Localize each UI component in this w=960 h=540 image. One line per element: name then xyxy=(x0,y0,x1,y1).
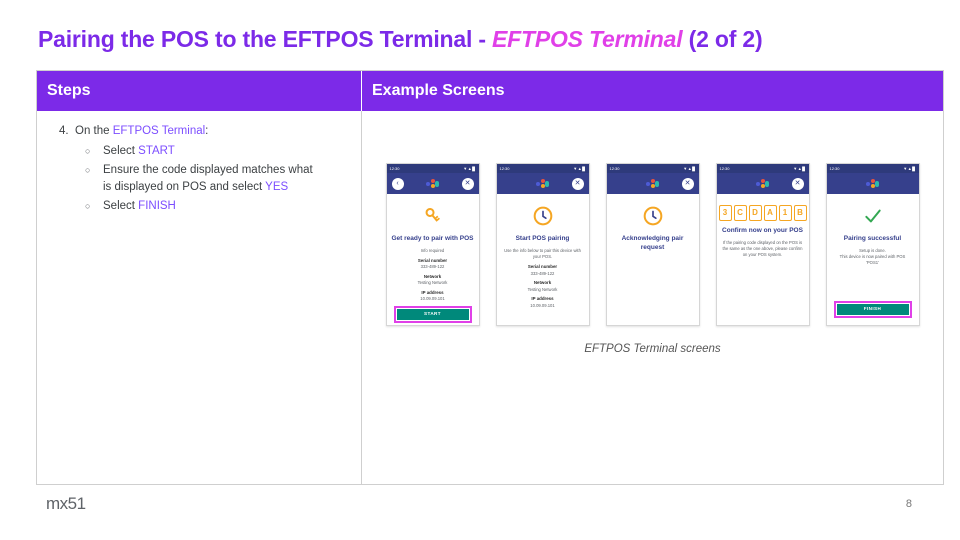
phone-screen-title: Confirm now on your POS xyxy=(722,227,803,236)
phone-app-bar: ‹✕ xyxy=(387,173,479,194)
steps-cell: 4. On the EFTPOS Terminal: ○ Select STAR… xyxy=(37,111,362,484)
app-bar-spacer xyxy=(722,178,734,190)
phone-screen-1: 12:30▼▲█‹✕Get ready to pair with POSInfo… xyxy=(386,163,480,326)
field-value: 10.09.09.101 xyxy=(530,303,554,309)
mx51-logo-icon xyxy=(756,178,770,190)
phone-app-bar: ✕ xyxy=(717,173,809,194)
phone-info-field: Serial number333-489-122 xyxy=(418,258,447,270)
phone-screen-title: Get ready to pair with POS xyxy=(392,235,474,244)
finish-button[interactable]: FINISH xyxy=(837,304,909,315)
status-signal-icons: ▼▲█ xyxy=(463,167,475,171)
list-item: ○ Select START xyxy=(85,143,353,161)
status-time: 12:30 xyxy=(500,167,510,171)
example-screens-cell: 12:30▼▲█‹✕Get ready to pair with POSInfo… xyxy=(362,111,943,484)
status-signal-icons: ▼▲█ xyxy=(903,167,915,171)
phone-status-bar: 12:30▼▲█ xyxy=(717,164,809,173)
phone-status-bar: 12:30▼▲█ xyxy=(827,164,919,173)
phone-screen-body: Get ready to pair with POSInfo requiredS… xyxy=(387,194,479,325)
mx51-logo-icon xyxy=(536,178,550,190)
status-signal-icons: ▼▲█ xyxy=(683,167,695,171)
clock-icon xyxy=(643,206,663,231)
close-icon[interactable]: ✕ xyxy=(682,178,694,190)
title-main-text: Pairing the POS to the EFTPOS Terminal - xyxy=(38,26,492,52)
back-icon[interactable]: ‹ xyxy=(392,178,404,190)
mx51-logo-icon xyxy=(426,178,440,190)
key-icon xyxy=(423,206,443,231)
step-number: 4. xyxy=(45,123,75,141)
cta-highlight-box: START xyxy=(394,306,472,323)
app-bar-spacer xyxy=(612,178,624,190)
code-digit: 1 xyxy=(779,205,792,221)
step-lead-suffix: : xyxy=(205,125,208,137)
sub-step-text: Select START xyxy=(103,143,323,161)
screens-caption: EFTPOS Terminal screens xyxy=(362,343,943,355)
app-bar-spacer xyxy=(832,178,844,190)
phone-screen-subtitle: Setup is done.This device is now paired … xyxy=(840,248,906,267)
table-header-row: Steps Example Screens xyxy=(37,71,943,111)
close-icon[interactable]: ✕ xyxy=(462,178,474,190)
field-value: 333-489-122 xyxy=(528,271,557,277)
column-header-steps: Steps xyxy=(37,71,362,111)
status-time: 12:30 xyxy=(830,167,840,171)
app-bar-spacer xyxy=(502,178,514,190)
phone-screen-3: 12:30▼▲█✕Acknowledging pair request xyxy=(606,163,700,326)
field-value: 10.09.09.101 xyxy=(420,296,444,302)
content-table: Steps Example Screens 4. On the EFTPOS T… xyxy=(36,70,944,485)
status-time: 12:30 xyxy=(390,167,400,171)
phone-screen-4: 12:30▼▲█✕3CDA1BConfirm now on your POSIf… xyxy=(716,163,810,326)
phone-app-bar: ✕ xyxy=(497,173,589,194)
sub-step-prefix: Select xyxy=(103,145,138,157)
phone-screen-2: 12:30▼▲█✕Start POS pairingUse the info b… xyxy=(496,163,590,326)
status-time: 12:30 xyxy=(610,167,620,171)
title-emphasis-text: EFTPOS Terminal xyxy=(492,26,682,52)
sub-step-prefix: Select xyxy=(103,200,138,212)
phone-screen-5: 12:30▼▲█Pairing successfulSetup is done.… xyxy=(826,163,920,326)
clock-icon xyxy=(533,206,553,231)
close-icon[interactable]: ✕ xyxy=(792,178,804,190)
phone-info-field: IP address10.09.09.101 xyxy=(420,290,444,302)
sub-step-text: Select FINISH xyxy=(103,198,323,216)
sub-step-highlight: FINISH xyxy=(138,200,176,212)
bullet-icon: ○ xyxy=(85,198,103,216)
mx51-logo-icon xyxy=(866,178,880,190)
cta-highlight-box: FINISH xyxy=(834,301,912,318)
phone-cta-wrap: START xyxy=(392,306,474,326)
code-digit: A xyxy=(764,205,777,221)
close-icon[interactable]: ✕ xyxy=(572,178,584,190)
phone-hero-icon xyxy=(533,208,553,228)
phone-screen-title: Start POS pairing xyxy=(516,235,570,244)
sub-step-highlight: START xyxy=(138,145,175,157)
bullet-icon: ○ xyxy=(85,143,103,161)
start-button[interactable]: START xyxy=(397,309,469,320)
bullet-icon: ○ xyxy=(85,162,103,198)
title-tail-text: (2 of 2) xyxy=(682,26,762,52)
code-digit: B xyxy=(794,205,807,221)
phone-hero-icon xyxy=(863,208,883,228)
phone-screens-row: 12:30▼▲█‹✕Get ready to pair with POSInfo… xyxy=(362,163,943,326)
phone-info-field: Serial number333-489-122 xyxy=(528,264,557,276)
phone-screen-body: Pairing successfulSetup is done.This dev… xyxy=(827,194,919,325)
sub-step-text: Ensure the code displayed matches what i… xyxy=(103,162,323,198)
status-signal-icons: ▼▲█ xyxy=(793,167,805,171)
code-digit: D xyxy=(749,205,762,221)
phone-info-field: NetworkTesting Network xyxy=(418,274,448,286)
sub-step-highlight: YES xyxy=(265,181,288,193)
list-item: ○ Ensure the code displayed matches what… xyxy=(85,162,353,198)
phone-screen-subtitle: Use the info below to pair this device w… xyxy=(502,248,584,261)
phone-screen-body: 3CDA1BConfirm now on your POSIf the pair… xyxy=(717,194,809,325)
footer-logo: mx51 xyxy=(46,494,86,514)
code-digit: 3 xyxy=(719,205,732,221)
field-label: IP address xyxy=(530,296,554,302)
status-signal-icons: ▼▲█ xyxy=(573,167,585,171)
phone-app-bar xyxy=(827,173,919,194)
column-header-example-screens: Example Screens xyxy=(362,71,943,111)
phone-screen-title: Acknowledging pair request xyxy=(612,235,694,253)
page-number: 8 xyxy=(906,498,912,510)
step-lead-text: On the EFTPOS Terminal: xyxy=(75,123,353,141)
code-digit: C xyxy=(734,205,747,221)
phone-info-field: NetworkTesting Network xyxy=(528,280,558,292)
sub-steps-list: ○ Select START ○ Ensure the code display… xyxy=(45,143,353,216)
phone-info-field: IP address10.09.09.101 xyxy=(530,296,554,308)
phone-status-bar: 12:30▼▲█ xyxy=(387,164,479,173)
step-lead-highlight: EFTPOS Terminal xyxy=(113,125,205,137)
phone-screen-body: Acknowledging pair request xyxy=(607,194,699,325)
field-value: Testing Network xyxy=(528,287,558,293)
check-icon xyxy=(863,206,883,231)
phone-status-bar: 12:30▼▲█ xyxy=(607,164,699,173)
mx51-logo-icon xyxy=(646,178,660,190)
status-time: 12:30 xyxy=(720,167,730,171)
field-value: 333-489-122 xyxy=(418,264,447,270)
page-title: Pairing the POS to the EFTPOS Terminal -… xyxy=(38,26,762,53)
step-lead-prefix: On the xyxy=(75,125,113,137)
pairing-code: 3CDA1B xyxy=(719,205,807,221)
phone-screen-body: Start POS pairingUse the info below to p… xyxy=(497,194,589,325)
phone-app-bar: ✕ xyxy=(607,173,699,194)
phone-hero-icon xyxy=(423,208,443,228)
phone-screen-subtitle: If the pairing code displayed on the POS… xyxy=(722,240,804,259)
phone-hero-icon xyxy=(643,208,663,228)
phone-screen-subtitle: Info required xyxy=(421,248,445,254)
phone-status-bar: 12:30▼▲█ xyxy=(497,164,589,173)
phone-cta-wrap: FINISH xyxy=(832,301,914,321)
app-bar-spacer xyxy=(902,178,914,190)
field-value: Testing Network xyxy=(418,280,448,286)
list-item: ○ Select FINISH xyxy=(85,198,353,216)
step-lead-row: 4. On the EFTPOS Terminal: xyxy=(45,123,353,141)
field-label: Serial number xyxy=(528,264,557,270)
table-body-row: 4. On the EFTPOS Terminal: ○ Select STAR… xyxy=(37,111,943,484)
phone-screen-title: Pairing successful xyxy=(844,235,901,244)
